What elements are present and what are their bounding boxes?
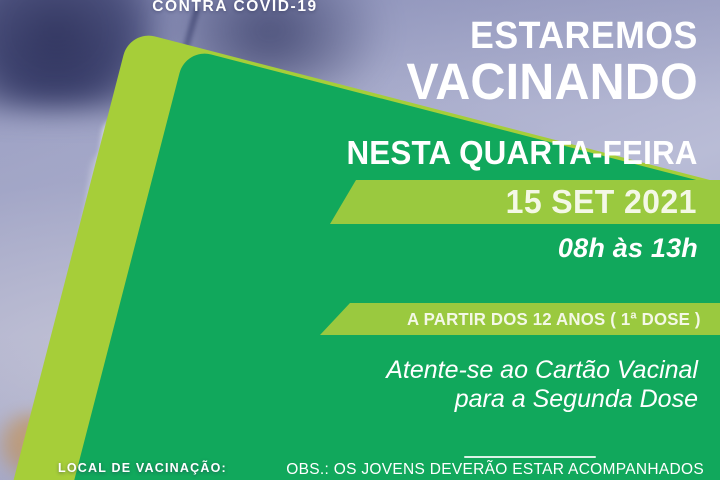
headline-line-2: VACINANDO (406, 58, 698, 107)
obs-text: OBS.: OS JOVENS DEVERÃO ESTAR ACOMPANHAD… (286, 461, 704, 479)
hours-text: 08h às 13h (558, 233, 698, 264)
location-label: LOCAL DE VACINAÇÃO: (58, 461, 227, 475)
age-banner: A PARTIR DOS 12 ANOS ( 1ª DOSE ) (320, 303, 720, 335)
age-text: A PARTIR DOS 12 ANOS ( 1ª DOSE ) (407, 309, 720, 330)
headline-block: ESTAREMOS VACINANDO (391, 18, 698, 107)
note-line-1: Atente-se ao Cartão Vacinal (386, 356, 698, 385)
vaccination-poster: CONTRA COVID-19 ESTAREMOS VACINANDO NEST… (0, 0, 720, 480)
obs-divider (464, 456, 596, 458)
second-dose-note: Atente-se ao Cartão Vacinal para a Segun… (386, 356, 698, 414)
date-banner: 15 SET 2021 (330, 180, 720, 224)
date-text: 15 SET 2021 (506, 183, 720, 221)
note-line-2: para a Segunda Dose (386, 385, 698, 414)
poster-content: CONTRA COVID-19 ESTAREMOS VACINANDO NEST… (0, 0, 720, 480)
weekday-text: NESTA QUARTA-FEIRA (347, 134, 698, 172)
headline-line-1: ESTAREMOS (410, 18, 698, 54)
eyebrow-text: CONTRA COVID-19 (0, 0, 470, 16)
